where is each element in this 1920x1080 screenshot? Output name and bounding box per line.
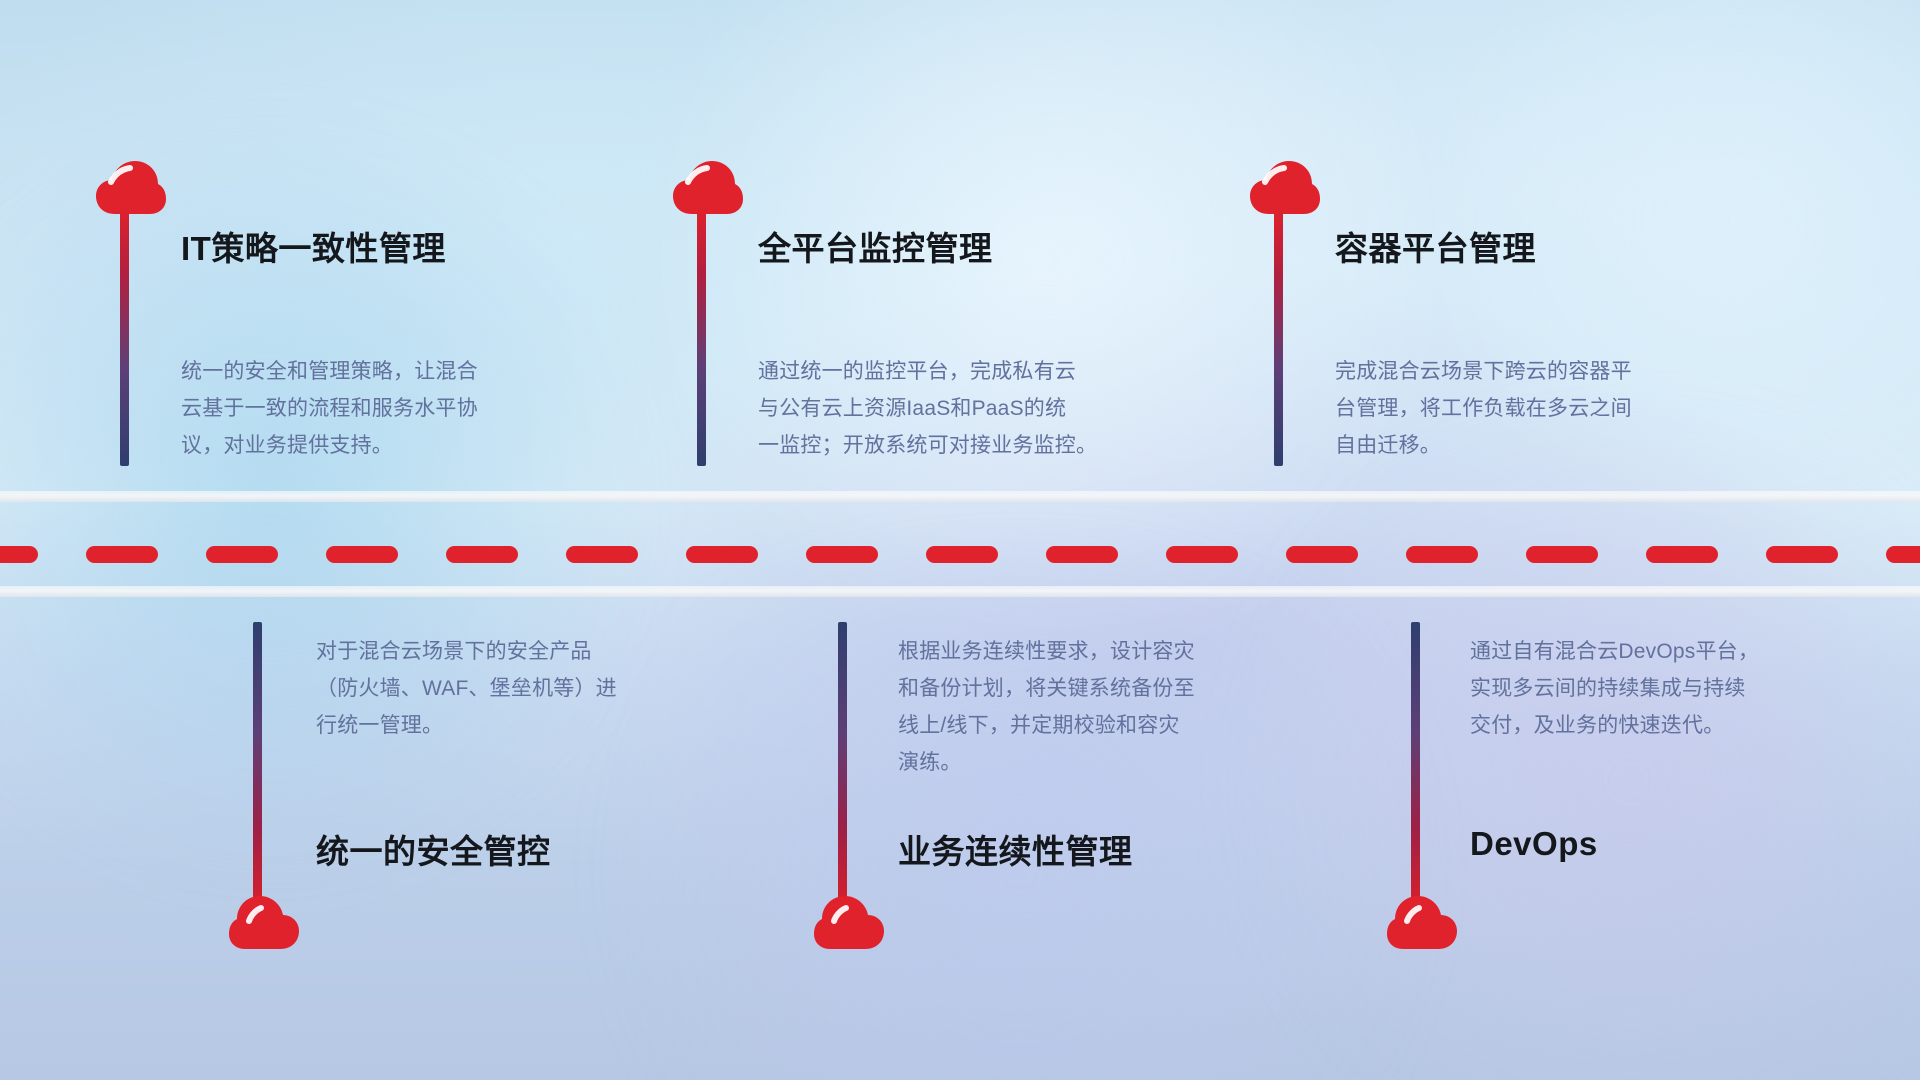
road-dash-segment bbox=[1286, 546, 1358, 563]
cloud-icon bbox=[672, 160, 744, 221]
road-dash-segment bbox=[1526, 546, 1598, 563]
road-edge-bottom bbox=[0, 586, 1920, 597]
milestone-body: 完成混合云场景下跨云的容器平 台管理，将工作负载在多云之间 自由迁移。 bbox=[1335, 353, 1632, 464]
road-dash-segment bbox=[566, 546, 638, 563]
milestone-title: 统一的安全管控 bbox=[316, 825, 551, 873]
road-dash-segment bbox=[0, 546, 38, 563]
road-dash-segment bbox=[1166, 546, 1238, 563]
road-dash-segment bbox=[326, 546, 398, 563]
cloud-icon bbox=[228, 895, 300, 956]
connector-bar bbox=[120, 206, 129, 466]
road-dash-segment bbox=[206, 546, 278, 563]
connector-bar bbox=[838, 622, 847, 902]
cloud-icon bbox=[1386, 895, 1458, 956]
milestone-body: 通过统一的监控平台，完成私有云 与公有云上资源IaaS和PaaS的统 一监控；开… bbox=[758, 353, 1097, 464]
road-dash-segment bbox=[446, 546, 518, 563]
milestone-title: 容器平台管理 bbox=[1335, 222, 1536, 270]
milestone-title: 业务连续性管理 bbox=[898, 825, 1133, 873]
cloud-icon bbox=[1249, 160, 1321, 221]
road-dash-segment bbox=[806, 546, 878, 563]
milestone-body: 根据业务连续性要求，设计容灾 和备份计划，将关键系统备份至 线上/线下，并定期校… bbox=[898, 633, 1195, 781]
connector-bar bbox=[253, 622, 262, 902]
road-dash-segment bbox=[1646, 546, 1718, 563]
connector-bar bbox=[1411, 622, 1420, 902]
road-dash-segment bbox=[1886, 546, 1920, 563]
road-dash-segment bbox=[1406, 546, 1478, 563]
milestone-title: 全平台监控管理 bbox=[758, 222, 993, 270]
road-dash-segment bbox=[1046, 546, 1118, 563]
road-dash-segment bbox=[926, 546, 998, 563]
road-dash-segment bbox=[86, 546, 158, 563]
connector-bar bbox=[1274, 206, 1283, 466]
road-dash-segment bbox=[1766, 546, 1838, 563]
milestone-title: DevOps bbox=[1470, 825, 1598, 863]
milestone-title: IT策略一致性管理 bbox=[181, 222, 446, 270]
infographic-canvas: IT策略一致性管理 统一的安全和管理策略，让混合 云基于一致的流程和服务水平协 … bbox=[0, 0, 1920, 1080]
road-edge-top bbox=[0, 491, 1920, 502]
cloud-icon bbox=[813, 895, 885, 956]
cloud-icon bbox=[95, 160, 167, 221]
road-dashed-line bbox=[0, 546, 1920, 563]
milestone-body: 统一的安全和管理策略，让混合 云基于一致的流程和服务水平协 议，对业务提供支持。 bbox=[181, 353, 478, 464]
connector-bar bbox=[697, 206, 706, 466]
road-dash-segment bbox=[686, 546, 758, 563]
milestone-body: 对于混合云场景下的安全产品 （防火墙、WAF、堡垒机等）进 行统一管理。 bbox=[316, 633, 617, 744]
milestone-body: 通过自有混合云DevOps平台， 实现多云间的持续集成与持续 交付，及业务的快速… bbox=[1470, 633, 1759, 744]
